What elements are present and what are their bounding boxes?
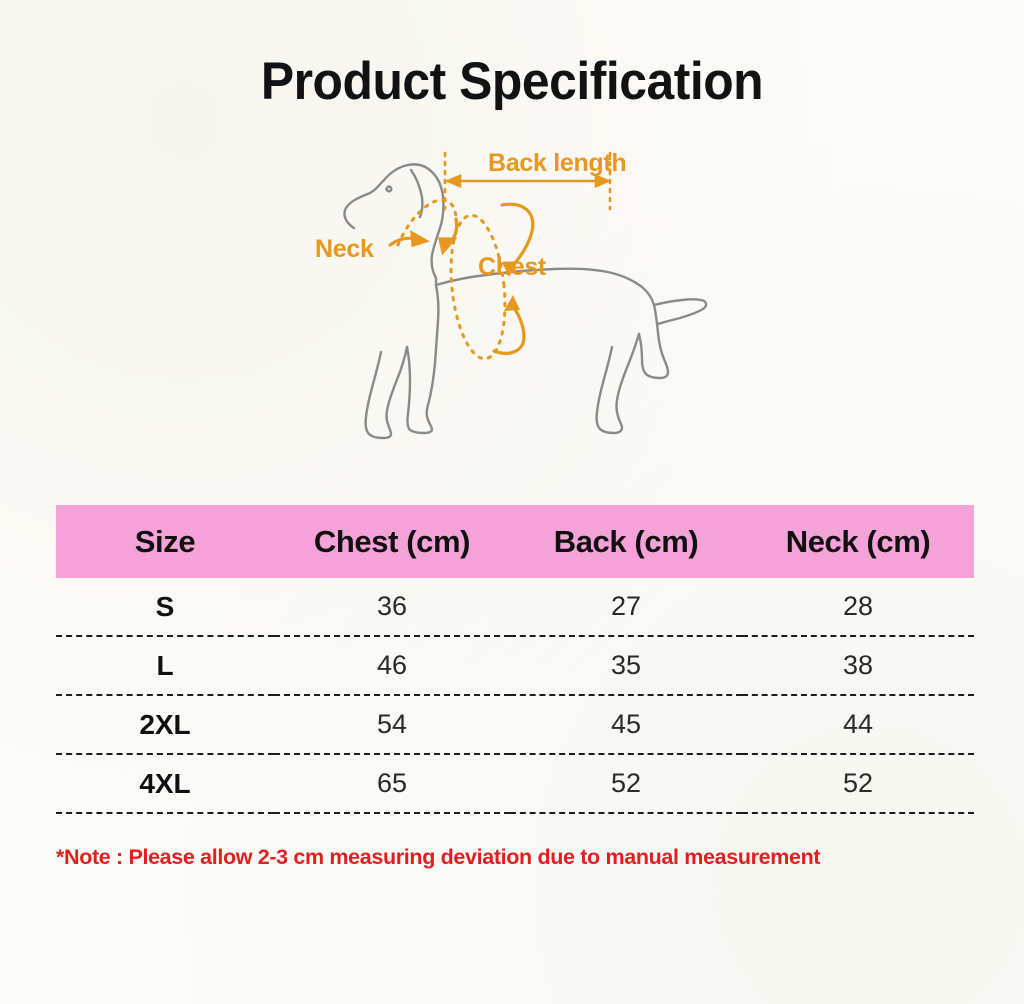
cell-back: 35	[510, 636, 742, 695]
cell-chest: 54	[274, 695, 510, 754]
column-header-neck: Neck (cm)	[742, 505, 974, 578]
column-header-size: Size	[56, 505, 274, 578]
dog-outline-path	[344, 164, 706, 438]
neck-arrows	[390, 219, 457, 252]
cell-neck: 28	[742, 578, 974, 636]
chest-label: Chest	[478, 253, 546, 282]
table-header-row: Size Chest (cm) Back (cm) Neck (cm)	[56, 505, 974, 578]
product-specification-page: Product Specification	[0, 0, 1024, 1004]
table-row: 2XL 54 45 44	[56, 695, 974, 754]
size-chart: Size Chest (cm) Back (cm) Neck (cm) S 36…	[56, 505, 974, 814]
page-title: Product Specification	[31, 54, 994, 110]
cell-size: 2XL	[56, 695, 274, 754]
measurement-note: *Note : Please allow 2-3 cm measuring de…	[56, 845, 820, 870]
cell-back: 27	[510, 578, 742, 636]
back-length-label: Back length	[488, 149, 626, 178]
cell-chest: 65	[274, 754, 510, 813]
cell-back: 45	[510, 695, 742, 754]
cell-neck: 52	[742, 754, 974, 813]
cell-chest: 46	[274, 636, 510, 695]
table-row: 4XL 65 52 52	[56, 754, 974, 813]
table-row: L 46 35 38	[56, 636, 974, 695]
cell-size: 4XL	[56, 754, 274, 813]
neck-label: Neck	[315, 235, 374, 264]
column-header-chest: Chest (cm)	[274, 505, 510, 578]
cell-neck: 44	[742, 695, 974, 754]
cell-back: 52	[510, 754, 742, 813]
cell-chest: 36	[274, 578, 510, 636]
size-table: Size Chest (cm) Back (cm) Neck (cm) S 36…	[56, 505, 974, 814]
dog-measurement-diagram: Back length Neck Chest	[280, 135, 740, 445]
table-row: S 36 27 28	[56, 578, 974, 636]
cell-size: L	[56, 636, 274, 695]
cell-size: S	[56, 578, 274, 636]
cell-neck: 38	[742, 636, 974, 695]
column-header-back: Back (cm)	[510, 505, 742, 578]
